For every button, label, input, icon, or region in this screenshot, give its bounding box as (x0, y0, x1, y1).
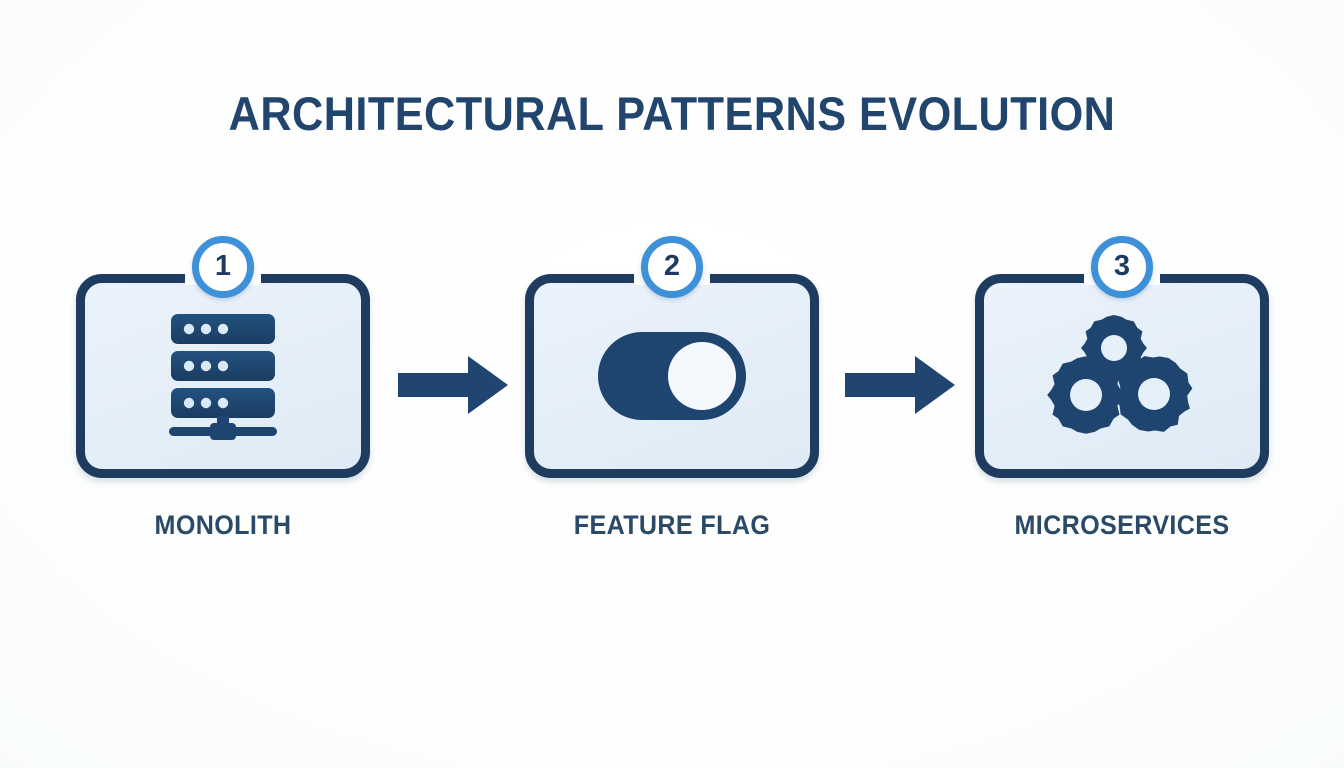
step-number-badge: 3 (1091, 236, 1153, 298)
server-stack-icon (157, 312, 289, 440)
step-card-microservices[interactable]: 3 MICROSERVICES (975, 274, 1269, 478)
step-number-badge: 1 (192, 236, 254, 298)
gears-icon (1042, 310, 1202, 442)
card-frame (975, 274, 1269, 478)
step-label-monolith: MONOLITH (86, 510, 359, 541)
page-title: ARCHITECTURAL PATTERNS EVOLUTION (54, 86, 1290, 141)
card-icon-area (534, 283, 810, 469)
flow-arrow-2 (845, 354, 955, 416)
flow-arrow-1 (398, 354, 508, 416)
step-number: 1 (215, 252, 231, 281)
card-icon-area (984, 283, 1260, 469)
step-card-monolith[interactable]: 1 MONOLITH (76, 274, 370, 478)
step-number: 3 (1114, 252, 1130, 281)
step-label-microservices: MICROSERVICES (985, 510, 1258, 541)
step-label-feature-flag: FEATURE FLAG (535, 510, 808, 541)
diagram-canvas: ARCHITECTURAL PATTERNS EVOLUTION (0, 0, 1344, 768)
block-arrow-right-icon (845, 354, 955, 416)
card-icon-area (85, 283, 361, 469)
block-arrow-right-icon (398, 354, 508, 416)
step-number: 2 (664, 252, 680, 281)
step-number-badge: 2 (641, 236, 703, 298)
toggle-switch-icon (596, 330, 748, 422)
card-frame (76, 274, 370, 478)
step-card-feature-flag[interactable]: 2 FEATURE FLAG (525, 274, 819, 478)
card-frame (525, 274, 819, 478)
